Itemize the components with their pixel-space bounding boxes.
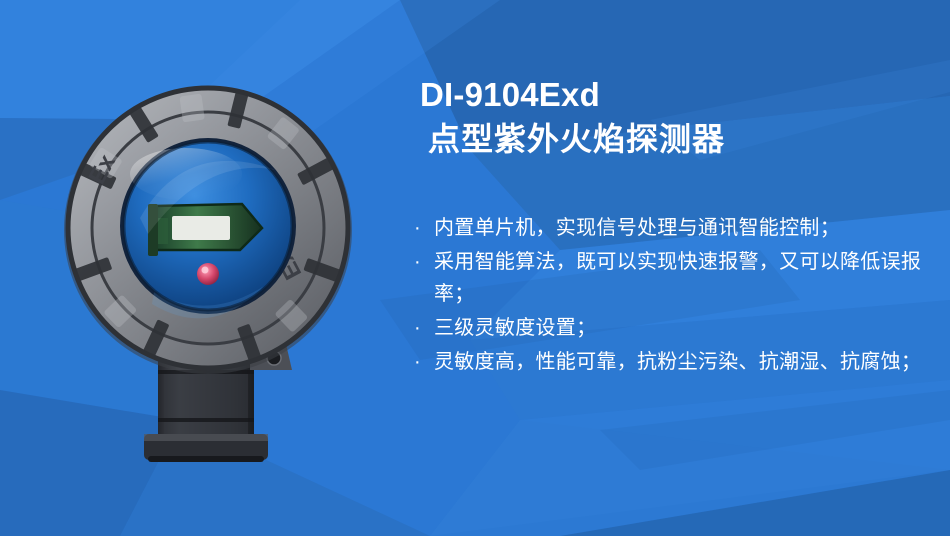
product-model: DI-9104Exd — [420, 74, 950, 116]
feature-item: · 灵敏度高，性能可靠，抗粉尘污染、抗潮湿、抗腐蚀； — [408, 346, 950, 378]
feature-list: · 内置单片机，实现信号处理与通讯智能控制； · 采用智能算法，既可以实现快速报… — [408, 212, 950, 380]
feature-item: · 采用智能算法，既可以实现快速报警，又可以降低误报率； — [408, 246, 950, 310]
feature-item: · 三级灵敏度设置； — [408, 312, 950, 344]
product-name: 点型紫外火焰探测器 — [428, 118, 950, 160]
product-photo: Ex Ex — [36, 78, 376, 498]
bullet-icon: · — [414, 346, 421, 378]
feature-text: 采用智能算法，既可以实现快速报警，又可以降低误报率； — [434, 251, 921, 305]
product-banner: Ex Ex DI-910 — [0, 0, 950, 536]
led-indicator — [197, 263, 219, 285]
feature-item: · 内置单片机，实现信号处理与通讯智能控制； — [408, 212, 950, 244]
title-block: DI-9104Exd 点型紫外火焰探测器 — [420, 74, 950, 160]
bullet-icon: · — [414, 212, 421, 244]
bullet-icon: · — [414, 312, 421, 344]
feature-text: 三级灵敏度设置； — [434, 317, 596, 339]
bullet-icon: · — [414, 246, 421, 278]
feature-text: 内置单片机，实现信号处理与通讯智能控制； — [434, 217, 840, 239]
text-column: DI-9104Exd 点型紫外火焰探测器 · 内置单片机，实现信号处理与通讯智能… — [408, 0, 950, 536]
feature-text: 灵敏度高，性能可靠，抗粉尘污染、抗潮湿、抗腐蚀； — [434, 351, 921, 373]
